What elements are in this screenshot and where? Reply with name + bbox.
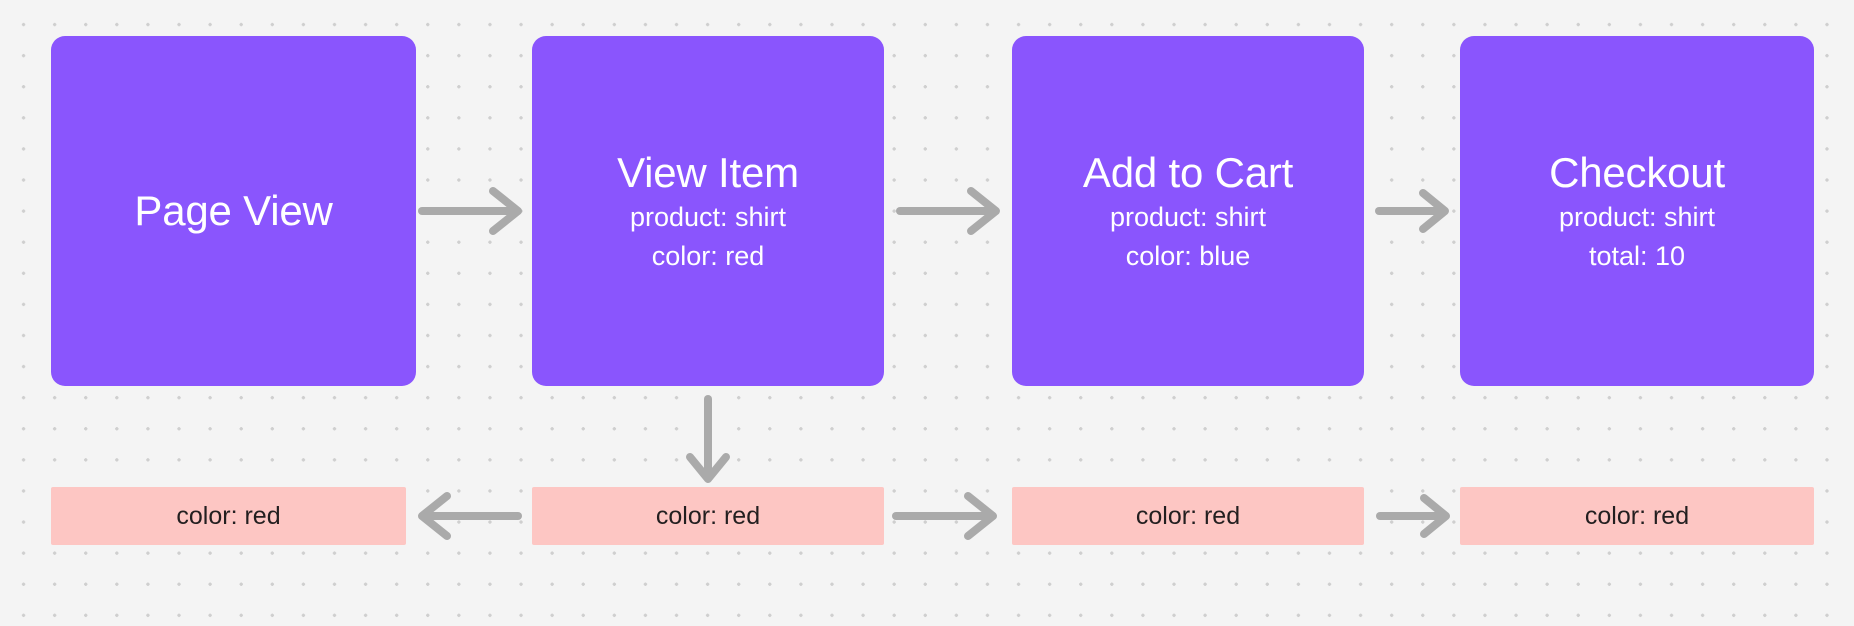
event-node-title: Checkout [1549,150,1725,195]
arrow-right-chip3-chip4 [1376,490,1456,542]
event-node-property: product: shirt [630,202,786,233]
event-node-property: product: shirt [1559,202,1715,233]
diagram-canvas: Page View View Item product: shirt color… [0,0,1854,626]
event-node-property: color: blue [1126,241,1251,272]
arrow-right-node1-node2 [418,185,528,237]
arrow-right-chip2-chip3 [892,490,1004,542]
event-node-page-view[interactable]: Page View [51,36,416,386]
property-chip-label: color: red [656,502,760,531]
event-node-title: Add to Cart [1083,150,1293,195]
event-node-property: total: 10 [1589,241,1685,272]
event-node-checkout[interactable]: Checkout product: shirt total: 10 [1460,36,1814,386]
event-node-title: Page View [134,188,332,233]
property-chip-label: color: red [1136,502,1240,531]
event-node-view-item[interactable]: View Item product: shirt color: red [532,36,884,386]
property-chip-1[interactable]: color: red [51,487,406,545]
arrow-left-chip2-chip1 [410,490,522,542]
property-chip-label: color: red [176,502,280,531]
arrow-right-node3-node4 [1375,185,1455,237]
event-node-property: color: red [652,241,765,272]
event-node-properties: product: shirt color: blue [1110,202,1266,272]
event-node-add-to-cart[interactable]: Add to Cart product: shirt color: blue [1012,36,1364,386]
event-node-properties: product: shirt total: 10 [1559,202,1715,272]
arrow-down-node2-chip2 [682,395,734,487]
event-node-title: View Item [617,150,799,195]
property-chip-label: color: red [1585,502,1689,531]
event-node-properties: product: shirt color: red [630,202,786,272]
property-chip-4[interactable]: color: red [1460,487,1814,545]
property-chip-2[interactable]: color: red [532,487,884,545]
property-chip-3[interactable]: color: red [1012,487,1364,545]
event-node-property: product: shirt [1110,202,1266,233]
arrow-right-node2-node3 [896,185,1006,237]
